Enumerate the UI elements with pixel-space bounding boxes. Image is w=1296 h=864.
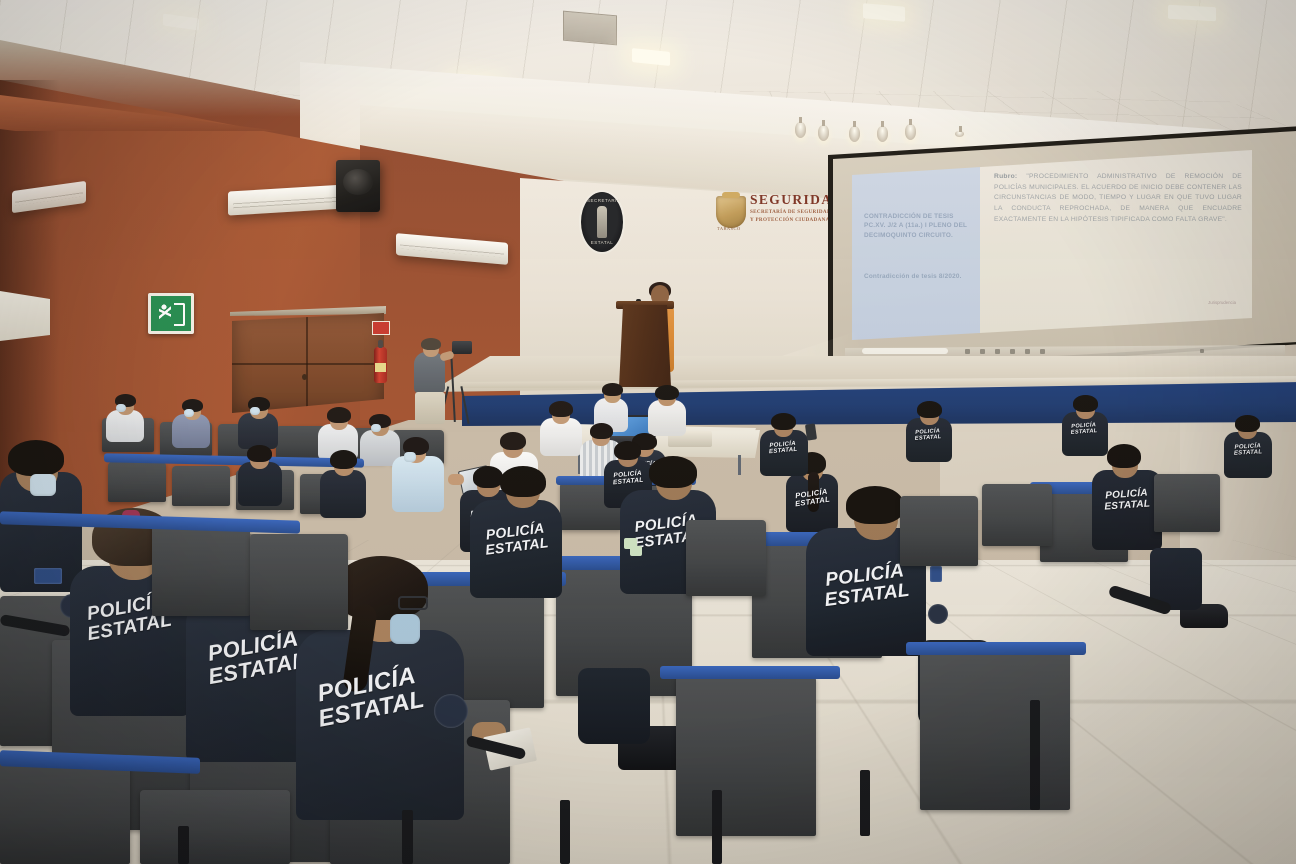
taskbar-icon-1[interactable] [965,349,970,354]
attendee-hair-rc1 [614,441,641,460]
track-spotlight-4 [877,126,888,142]
shoulder-emblem-fg3 [434,694,468,728]
attendee-hair-b4 [327,407,351,423]
braid [808,472,819,512]
attendee-hair-m2 [590,423,613,439]
cameraman-pants [415,392,445,424]
attendee-hand-tab [448,474,464,485]
slide-body-text: Rubro: "PROCEDIMIENTO ADMINISTRATIVO DE … [994,172,1242,226]
eyeglasses-icon [398,596,428,610]
chair-fg-r1[interactable] [920,650,1070,810]
chair-fg-r2[interactable] [676,676,816,836]
face-mask-b3 [250,407,260,415]
track-spotlight-2 [818,125,829,141]
face-mask-b1 [116,404,126,412]
fire-extinguisher-sign [372,321,390,335]
attendee-hair-mm1 [247,445,272,462]
wall-left-shadow [0,80,60,500]
chair-leg-d [860,770,870,836]
presentation-slide: CONTRADICCIÓN DE TESIS PC.XV. J/2 A (11a… [852,150,1252,340]
attendee-torso-fg3 [296,630,464,820]
attendee-hair-r1 [1107,444,1141,468]
face-mask-b2 [184,409,194,417]
taskbar-tray-icon[interactable] [1200,349,1204,353]
taskbar-icon-3[interactable] [995,349,1000,354]
slide-left-panel [852,150,980,340]
shoulder-patch-cb [928,604,948,624]
attendee-torso-ml [470,500,562,598]
video-camera-icon [452,341,472,354]
attendee-torso-tab [392,456,444,512]
cameraman-hair [421,338,441,350]
slide-body-label: Rubro: [994,173,1017,180]
face-mask-b5 [371,424,381,432]
attendee-hair-ml [500,466,546,497]
attendee-hair-m1 [549,401,573,417]
attendee-hair-photo [771,413,796,430]
seguridad-logo: SEGURIDAD SECRETARÍA DE SEGURIDAD Y PROT… [716,192,824,234]
podium [619,305,671,387]
chair-empty-1[interactable] [152,520,250,616]
chair-leg-r1 [1030,700,1040,810]
chair-empty-3[interactable] [686,520,766,596]
seguridad-subtitle-1: SECRETARÍA DE SEGURIDAD [750,209,831,215]
attendee-hair-mm2 [330,450,357,469]
police-emblem-icon: SECRETARÍA ESTATAL [581,192,623,252]
emblem-ring-bottom: ESTATAL [587,240,617,248]
chair-mid-1[interactable] [108,462,166,502]
track-spotlight-6 [955,131,964,137]
taskbar-icon-4[interactable] [1010,349,1015,354]
door-knob[interactable] [302,374,307,380]
chair-empty-5[interactable] [982,484,1052,546]
green-sticker-ml [624,538,637,549]
photo-scene: SECRETARÍA ESTATAL SEGURIDAD SECRETARÍA … [0,0,1296,864]
chair-leg-a [178,826,189,864]
slide-citation: Jurisprudencia [1208,300,1236,305]
slide-body-content: "PROCEDIMIENTO ADMINISTRATIVO DE REMOCIÓ… [994,173,1242,223]
chair-empty-2[interactable] [250,534,348,630]
chair-rail-fg4 [906,642,1086,655]
attendee-hair-mm3 [473,466,503,488]
face-mask-fg3 [390,614,420,644]
chair-leg-b [402,810,413,864]
emergency-exit-icon [148,293,194,334]
ceiling-vent [563,11,617,46]
staff-hair-1 [602,383,623,396]
attendee-hair-ph3 [1073,395,1098,412]
phone-device[interactable] [805,423,817,440]
chair-leg-c [560,800,570,864]
chair-empty-8[interactable] [140,790,290,864]
emblem-ring-top: SECRETARÍA [587,198,617,206]
fire-extinguisher-icon [374,347,387,383]
whiteboard [0,291,50,341]
attendee-hair-cm [649,456,697,488]
attendee-hair-ph4 [1235,415,1260,432]
leg-cm [578,668,650,744]
ceiling-light-panel-4 [1168,5,1216,22]
taskbar-search-input[interactable] [862,348,948,354]
wall-speaker-icon [336,160,380,212]
arm-stripe-cb [930,566,942,582]
attendee-hair-cb [846,486,904,524]
chair-mid-2[interactable] [172,466,230,506]
arm-patch-fg0 [34,568,62,584]
tabasco-crest-icon [716,196,746,228]
taskbar-icon-5[interactable] [1025,349,1030,354]
table-leg-2 [738,455,741,475]
attendee-torso-mm2 [320,470,366,518]
attendee-hair-ph2 [917,401,942,418]
attendee-torso-r1 [1092,470,1162,550]
taskbar-icon-6[interactable] [1040,349,1045,354]
chair-leg-r2 [712,790,722,864]
track-spotlight-1 [795,122,806,138]
slide-subheading: Contradicción de tesis 8/2020. [864,272,972,281]
attendee-hair-w1 [500,432,526,450]
face-mask-tab [404,452,416,462]
track-spotlight-5 [905,124,916,140]
seguridad-subtitle-2: Y PROTECCIÓN CIUDADANA [750,217,830,223]
face-mask-fg0 [30,474,56,496]
taskbar-icon-2[interactable] [980,349,985,354]
attendee-hair-fg0 [8,440,64,476]
staff-hair-2 [655,385,679,400]
chair-rail-fg3 [660,666,840,679]
seguridad-state-label: TABASCO [717,226,741,231]
track-spotlight-3 [849,126,860,142]
chair-empty-4[interactable] [900,496,978,566]
slide-heading: CONTRADICCIÓN DE TESIS PC.XV. J/2 A (11a… [864,212,972,240]
attendee-hair-fg3 [334,556,428,620]
chair-empty-7[interactable] [0,760,130,864]
chair-empty-6[interactable] [1154,474,1220,532]
